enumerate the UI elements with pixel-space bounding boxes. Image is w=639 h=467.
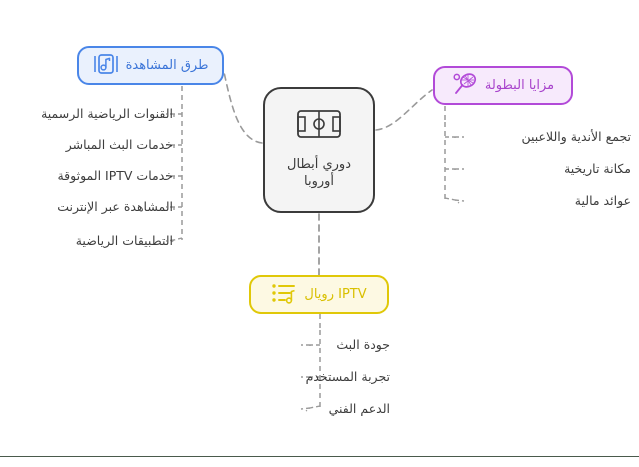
leaf-item[interactable]: مكانة تاريخية — [564, 161, 631, 176]
leaf-item[interactable]: الدعم الفني — [329, 401, 390, 416]
leaf-item[interactable]: خدمات البث المباشر — [66, 137, 173, 152]
wire-center-to-tournament-benefits — [376, 90, 432, 130]
leaf-item[interactable]: خدمات IPTV الموثوقة — [57, 168, 173, 183]
branch-node-royal-iptv[interactable]: IPTV رويال — [249, 275, 389, 314]
leaf-item[interactable]: عوائد مالية — [575, 193, 631, 208]
branch-node-viewing-methods[interactable]: طرق المشاهدة — [77, 46, 224, 85]
branch-label-tournament-benefits: مزايا البطولة — [485, 78, 554, 93]
bottom-divider — [0, 456, 639, 457]
mindmap-canvas: دوري أبطال أوروبا طرق المشاهدة مزايا الب… — [0, 0, 639, 467]
leaf-item[interactable]: المشاهدة عبر الإنترنت — [57, 199, 173, 214]
wire-center-to-viewing-methods — [224, 72, 262, 143]
branch-label-viewing-methods: طرق المشاهدة — [126, 58, 209, 73]
football-pitch-icon — [297, 110, 341, 142]
branch-node-tournament-benefits[interactable]: مزايا البطولة — [433, 66, 573, 105]
playlist-music-icon — [271, 282, 297, 308]
leaf-item[interactable]: تجمع الأندية واللاعبين — [522, 129, 632, 144]
tennis-racket-icon — [452, 72, 478, 100]
ticks-tournament-benefits — [445, 137, 464, 203]
branch-label-royal-iptv: IPTV رويال — [304, 287, 366, 302]
leaf-item[interactable]: تجربة المستخدم — [306, 369, 390, 384]
center-node-label: دوري أبطال أوروبا — [287, 156, 351, 190]
leaf-item[interactable]: التطبيقات الرياضية — [76, 233, 173, 248]
center-node[interactable]: دوري أبطال أوروبا — [263, 87, 375, 213]
leaf-item[interactable]: جودة البث — [336, 337, 390, 352]
leaf-item[interactable]: القنوات الرياضية الرسمية — [41, 106, 173, 121]
media-player-icon — [93, 53, 119, 79]
